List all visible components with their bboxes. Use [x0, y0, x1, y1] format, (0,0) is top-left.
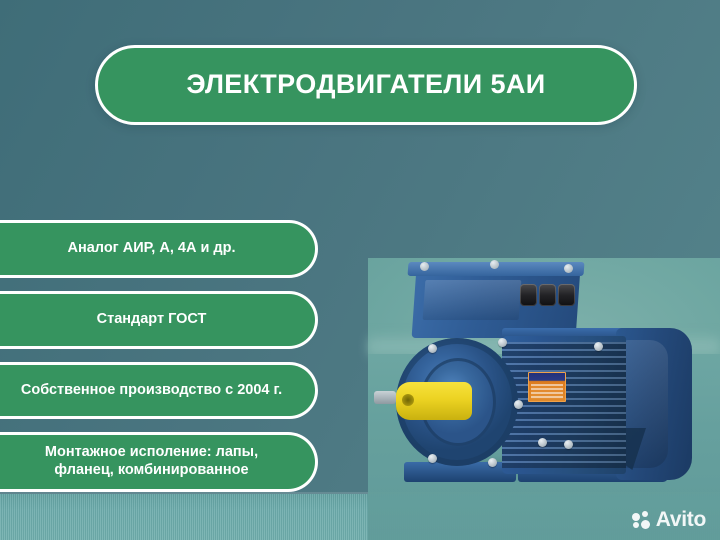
feature-pill-mounting: Монтажное исполение: лапы, фланец, комби…	[0, 432, 318, 492]
housing-bolt	[564, 440, 573, 449]
housing-bolt	[594, 342, 603, 351]
motor-shaft-tip	[374, 391, 396, 404]
banner-title: ЭЛЕКТРОДВИГАТЕЛИ 5АИ	[95, 45, 637, 125]
avito-dots-icon	[632, 511, 651, 530]
feature-pill-production: Собственное производство с 2004 г.	[0, 362, 318, 419]
cable-gland-icon	[539, 284, 556, 306]
housing-bolt	[538, 438, 547, 447]
housing-bolt	[428, 454, 437, 463]
terminal-box-face	[423, 280, 522, 320]
avito-wordmark: Avito	[656, 508, 706, 532]
promo-banner: ЭЛЕКТРОДВИГАТЕЛИ 5АИ Аналог АИР, А, 4А и…	[0, 0, 720, 540]
housing-bolt	[488, 458, 497, 467]
avito-watermark: Avito	[632, 508, 706, 532]
terminal-bolt	[564, 264, 573, 273]
terminal-bolt	[490, 260, 499, 269]
feature-label: Собственное производство с 2004 г.	[21, 382, 282, 399]
housing-bolt	[498, 338, 507, 347]
cable-gland-icon	[520, 284, 537, 306]
electric-motor-image	[368, 258, 720, 540]
feature-label: Аналог АИР, А, 4А и др.	[68, 240, 236, 257]
feature-label: Стандарт ГОСТ	[97, 311, 207, 328]
feature-pill-standard: Стандарт ГОСТ	[0, 291, 318, 349]
terminal-bolt	[420, 262, 429, 271]
cable-gland-icon	[558, 284, 575, 306]
feature-pill-analog: Аналог АИР, А, 4А и др.	[0, 220, 318, 278]
banner-title-text: ЭЛЕКТРОДВИГАТЕЛИ 5АИ	[186, 69, 545, 101]
motor-shaft-protector	[396, 382, 472, 420]
feature-label: Монтажное исполение: лапы, фланец, комби…	[14, 444, 289, 479]
housing-bolt	[514, 400, 523, 409]
motor-nameplate	[528, 372, 566, 402]
housing-bolt	[428, 344, 437, 353]
